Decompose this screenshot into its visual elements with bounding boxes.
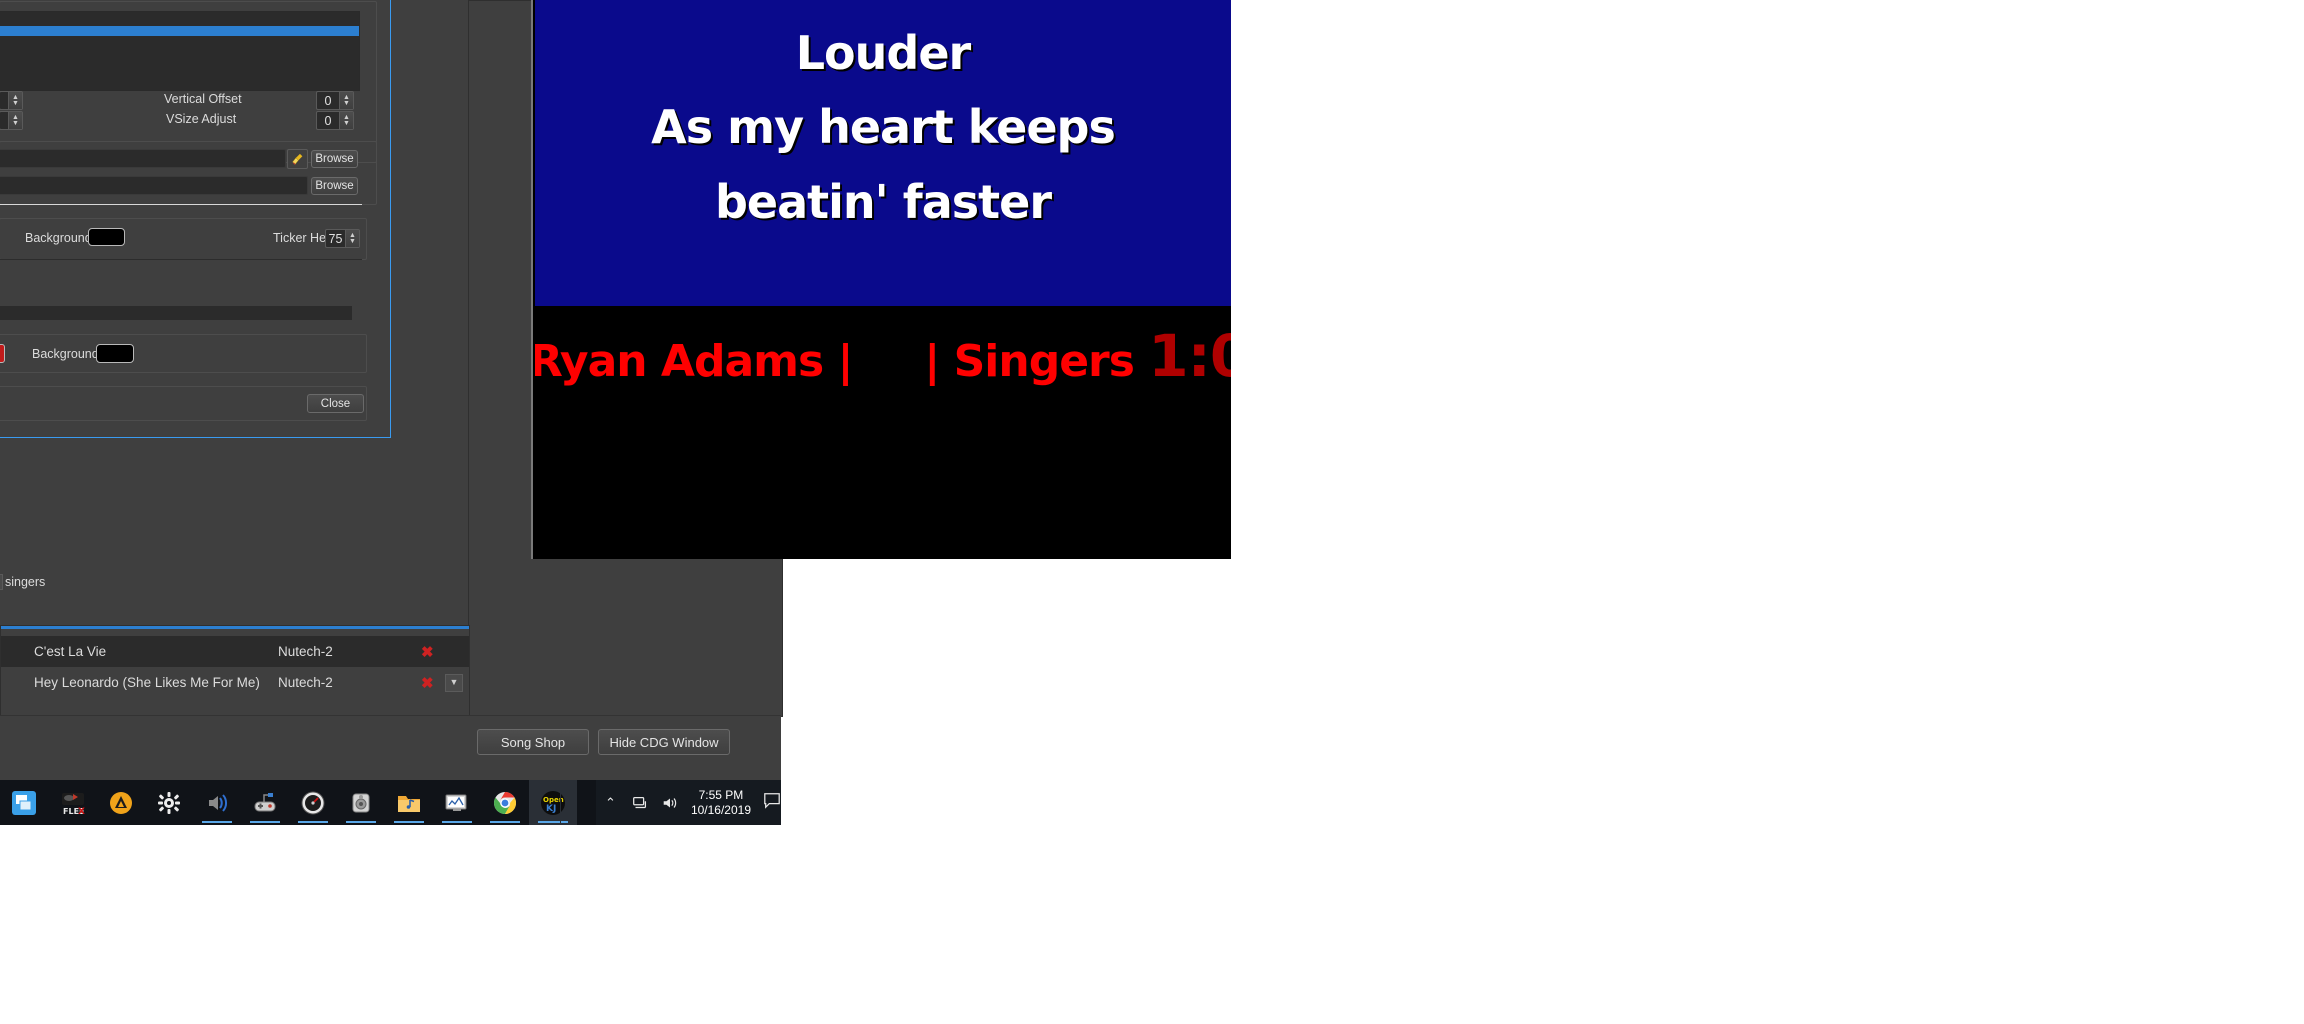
ticker-time: 1:08 bbox=[1148, 322, 1231, 386]
vertical-offset-label: Vertical Offset bbox=[164, 92, 242, 106]
divider bbox=[0, 204, 362, 205]
ticker-custom-text-input[interactable] bbox=[0, 306, 352, 320]
remove-song-icon[interactable]: ✖ bbox=[421, 643, 434, 661]
divider bbox=[0, 259, 362, 260]
left-size-spin-arrows[interactable]: ▲ ▼ bbox=[8, 112, 22, 129]
spin-down-icon[interactable]: ▼ bbox=[343, 121, 350, 127]
cdg-ticker-bar: Ryan Adams | | Singers 1:08 bbox=[535, 306, 1231, 386]
queue-song-source: Nutech-2 bbox=[278, 675, 333, 690]
gear-glyph bbox=[156, 790, 182, 816]
task-view-icon[interactable] bbox=[0, 780, 48, 825]
cdg-lyric-line-3: beatin' faster bbox=[535, 175, 1231, 229]
vertical-offset-value: 0 bbox=[317, 94, 339, 108]
gamepad-icon[interactable] bbox=[241, 780, 289, 825]
scroll-down-icon[interactable]: ▼ bbox=[445, 674, 463, 692]
clock-time: 7:55 PM bbox=[691, 788, 751, 803]
openkj-glyph: Open KJ bbox=[540, 790, 566, 816]
spin-down-icon[interactable]: ▼ bbox=[12, 101, 19, 107]
left-size-spinbox[interactable]: ▲ ▼ bbox=[0, 111, 23, 130]
left-offset-spinbox[interactable]: ▲ ▼ bbox=[0, 91, 23, 110]
svg-text:KJ: KJ bbox=[546, 804, 556, 814]
background-color-swatch-2[interactable] bbox=[96, 344, 134, 363]
chrome-glyph bbox=[492, 790, 518, 816]
secondary-path-input[interactable] bbox=[0, 176, 308, 195]
singers-label: singers bbox=[5, 575, 45, 589]
vsize-adjust-spin-arrows[interactable]: ▲ ▼ bbox=[339, 112, 353, 129]
left-offset-spin-arrows[interactable]: ▲ ▼ bbox=[8, 92, 22, 109]
taskbar-divider bbox=[560, 780, 561, 825]
cdg-lyric-line-1: Louder bbox=[535, 26, 1231, 80]
vsize-adjust-label: VSize Adjust bbox=[166, 112, 236, 126]
singers-count-spinbox[interactable] bbox=[0, 574, 3, 590]
queue-song-title: Hey Leonardo (She Likes Me For Me) bbox=[34, 675, 260, 690]
singers-row: singers bbox=[0, 283, 362, 299]
volume-glyph bbox=[661, 794, 679, 812]
cdg-lyrics-window: Louder As my heart keeps beatin' faster … bbox=[531, 0, 1231, 559]
triangle-app-icon[interactable] bbox=[97, 780, 145, 825]
browse-button-1[interactable]: Browse bbox=[311, 150, 358, 168]
close-button[interactable]: Close bbox=[307, 394, 364, 413]
fleex-glyph: FLEE X bbox=[60, 790, 86, 816]
speaker-blue-icon[interactable] bbox=[193, 780, 241, 825]
accent-color-swatch[interactable] bbox=[0, 344, 5, 363]
queue-header-accent bbox=[1, 626, 469, 629]
cdg-lyrics-area: Louder As my heart keeps beatin' faster bbox=[535, 0, 1231, 306]
ticker-height-spin-arrows[interactable]: ▲ ▼ bbox=[345, 230, 359, 247]
vsize-adjust-spinbox[interactable]: 0 ▲ ▼ bbox=[316, 111, 354, 130]
network-icon[interactable] bbox=[631, 792, 649, 814]
gauge-icon[interactable] bbox=[289, 780, 337, 825]
spin-down-icon[interactable]: ▼ bbox=[12, 121, 19, 127]
font-list-selected-item[interactable] bbox=[0, 26, 359, 36]
task-view-glyph bbox=[11, 790, 37, 816]
queue-song-title: C'est La Vie bbox=[34, 644, 106, 659]
speaker-blue-glyph bbox=[204, 790, 230, 816]
music-folder-glyph bbox=[396, 790, 422, 816]
vertical-offset-spin-arrows[interactable]: ▲ ▼ bbox=[339, 92, 353, 109]
browse-button-2[interactable]: Browse bbox=[311, 177, 358, 195]
windows-taskbar: FLEE X bbox=[0, 780, 781, 825]
gamepad-glyph bbox=[252, 790, 278, 816]
ticker-singers-label: Singers bbox=[954, 336, 1134, 386]
speaker-gray-icon[interactable] bbox=[337, 780, 385, 825]
table-row[interactable]: Hey Leonardo (She Likes Me For Me) Nutec… bbox=[1, 667, 469, 698]
spin-down-icon[interactable]: ▼ bbox=[343, 101, 350, 107]
monitor-chart-icon[interactable] bbox=[433, 780, 481, 825]
ticker-background-color-swatch[interactable] bbox=[88, 228, 125, 246]
song-shop-button[interactable]: Song Shop bbox=[477, 729, 589, 755]
broom-glyph bbox=[291, 153, 304, 166]
bottom-action-bar: Song Shop Hide CDG Window bbox=[0, 715, 781, 776]
taskbar-clock[interactable]: 7:55 PM 10/16/2019 bbox=[691, 788, 751, 818]
spin-down-icon[interactable]: ▼ bbox=[349, 239, 356, 245]
speaker-gray-glyph bbox=[348, 790, 374, 816]
ticker-height-spinbox[interactable]: 75 ▲ ▼ bbox=[325, 229, 360, 248]
ticker-height-value: 75 bbox=[326, 232, 345, 246]
gauge-glyph bbox=[300, 790, 326, 816]
cdg-lyric-line-2: As my heart keeps bbox=[535, 100, 1231, 154]
fleex-app-icon[interactable]: FLEE X bbox=[49, 780, 97, 825]
screen: beatin' faster Current: 1:16 Remain: 1:0… bbox=[0, 0, 2304, 1024]
table-row[interactable]: C'est La Vie Nutech-2 ✖ bbox=[1, 636, 469, 667]
network-glyph bbox=[631, 794, 649, 812]
system-tray: ⌃ 7:55 PM 10/16/2019 bbox=[596, 780, 781, 825]
ticker-separator-2: | bbox=[924, 336, 939, 386]
triangle-glyph bbox=[108, 790, 134, 816]
ticker-separator-1: | bbox=[838, 336, 853, 386]
background-image-path-input[interactable] bbox=[0, 149, 286, 168]
monitor-chart-glyph bbox=[444, 790, 470, 816]
font-list[interactable] bbox=[0, 11, 360, 91]
settings-gear-icon[interactable] bbox=[145, 780, 193, 825]
queue-song-source: Nutech-2 bbox=[278, 644, 333, 659]
remove-song-icon[interactable]: ✖ bbox=[421, 674, 434, 692]
vertical-offset-spinbox[interactable]: 0 ▲ ▼ bbox=[316, 91, 354, 110]
hide-cdg-window-button[interactable]: Hide CDG Window bbox=[598, 729, 730, 755]
settings-dialog: Vertical Offset 0 ▲ ▼ VSize Adjust 0 ▲ ▼ bbox=[0, 0, 391, 438]
clock-date: 10/16/2019 bbox=[691, 803, 751, 818]
action-center-icon[interactable] bbox=[763, 791, 781, 814]
openkj-icon[interactable]: Open KJ bbox=[529, 780, 577, 825]
chevron-up-icon[interactable]: ⌃ bbox=[602, 792, 619, 814]
cdg-ticker-text: Ryan Adams | | Singers 1:08 bbox=[535, 322, 1231, 386]
volume-icon[interactable] bbox=[661, 792, 679, 814]
ticker-artist: Ryan Adams bbox=[535, 336, 823, 386]
action-center-glyph bbox=[763, 791, 781, 809]
svg-text:X: X bbox=[78, 807, 85, 816]
broom-icon[interactable] bbox=[287, 149, 308, 169]
music-folder-icon[interactable] bbox=[385, 780, 433, 825]
chrome-icon[interactable] bbox=[481, 780, 529, 825]
vsize-adjust-value: 0 bbox=[317, 114, 339, 128]
